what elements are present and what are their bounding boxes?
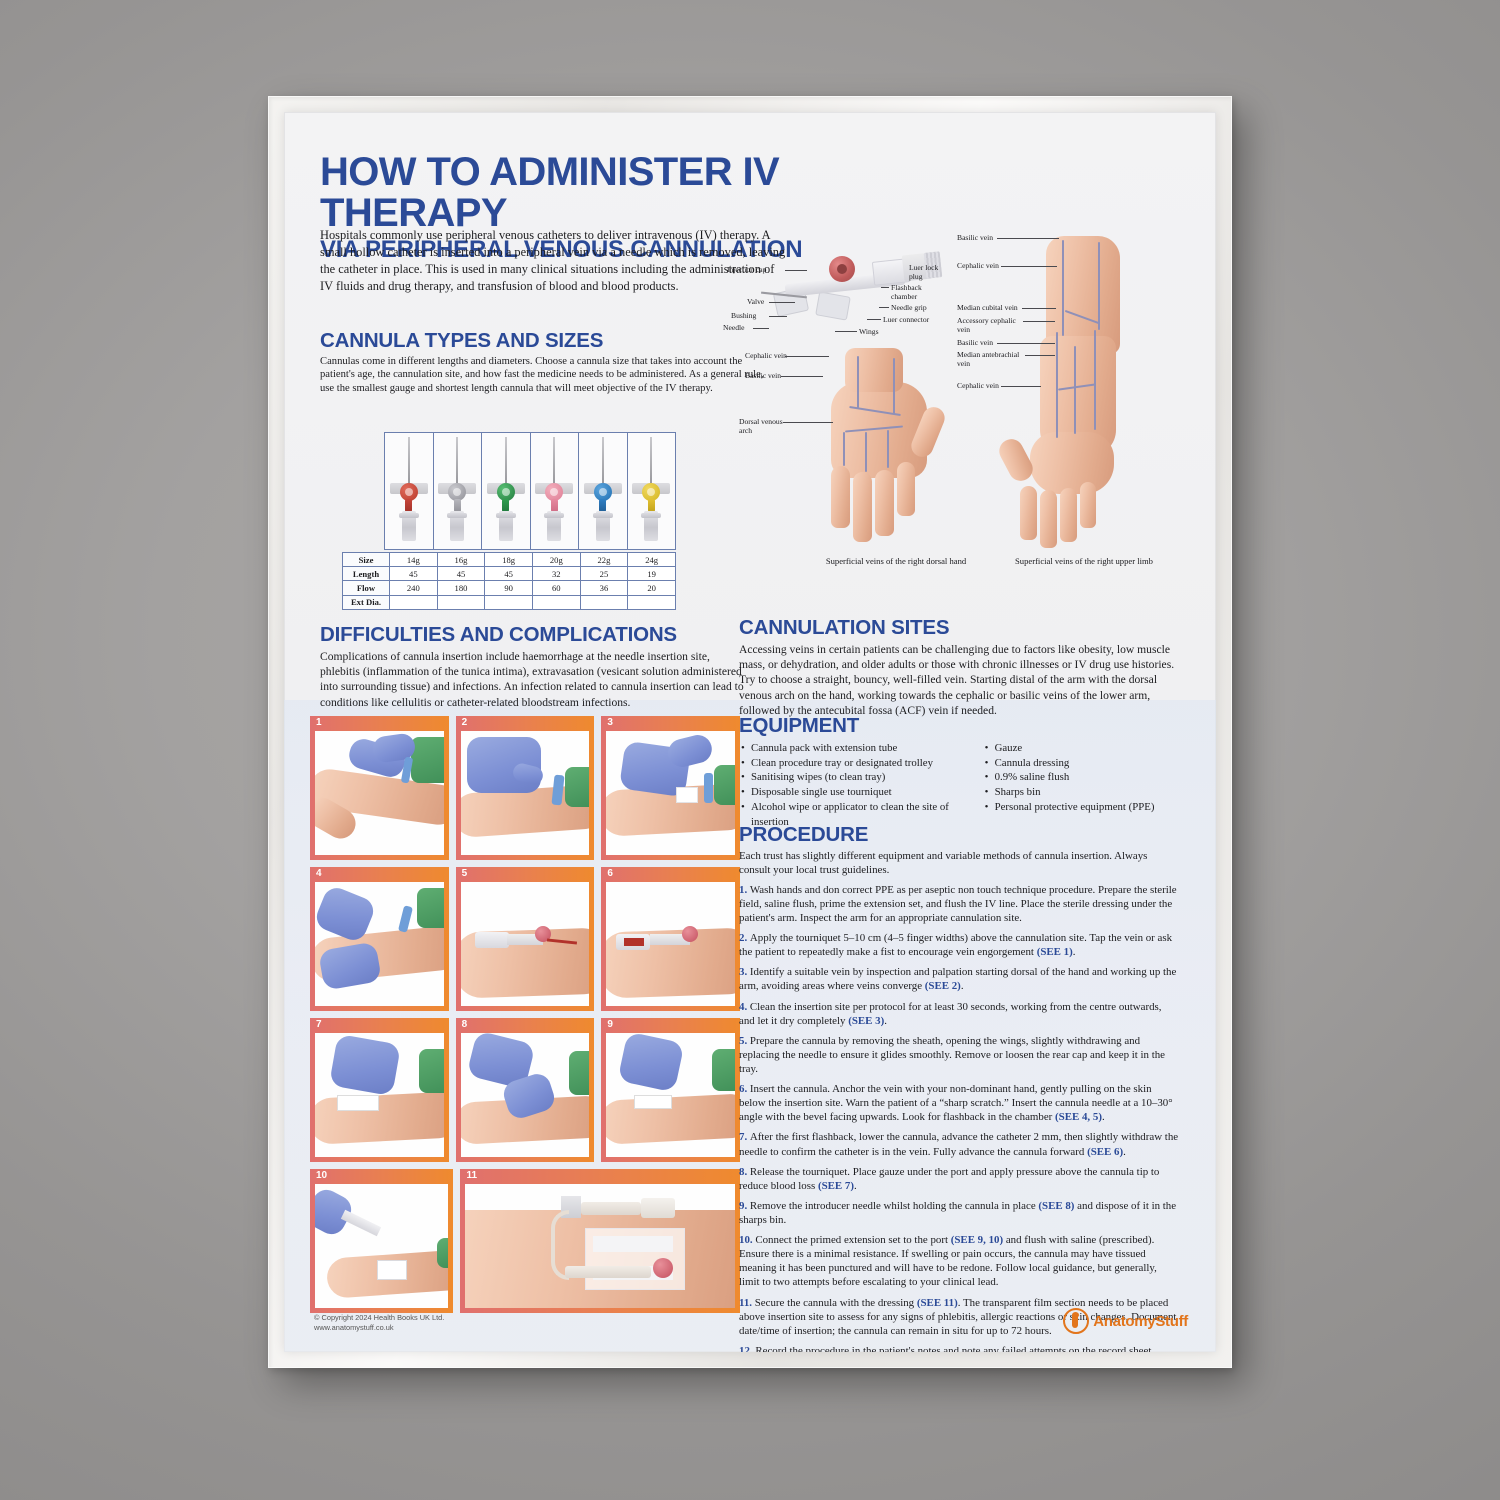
cell bbox=[532, 595, 580, 609]
procedure-section: PROCEDURE Each trust has slightly differ… bbox=[739, 824, 1179, 1352]
table-row: Length 45 45 45 32 25 19 bbox=[343, 567, 676, 581]
cell: 22g bbox=[580, 553, 628, 567]
cannula-types-section: CANNULA TYPES AND SIZES Cannulas come in… bbox=[320, 330, 770, 396]
cell: 20g bbox=[532, 553, 580, 567]
cannula-types-text: Cannulas come in different lengths and d… bbox=[320, 355, 770, 396]
procedure-photo-grid: 1 2 bbox=[310, 716, 740, 1320]
procedure-step: 6. Insert the cannula. Anchor the vein w… bbox=[739, 1082, 1179, 1124]
cell: 32 bbox=[532, 567, 580, 581]
grid-row: 7 8 bbox=[310, 1018, 740, 1162]
step-reference: (SEE 8) bbox=[1038, 1200, 1074, 1212]
poster-canvas: HOW TO ADMINISTER IV THERAPY VIA PERIPHE… bbox=[284, 112, 1216, 1352]
cannulation-sites-section: CANNULATION SITES Accessing veins in cer… bbox=[739, 617, 1179, 719]
cannulation-sites-heading: CANNULATION SITES bbox=[739, 617, 1179, 640]
cell: 45 bbox=[390, 567, 438, 581]
step-reference: (SEE 11) bbox=[917, 1297, 958, 1309]
photo-number: 9 bbox=[607, 1019, 613, 1030]
step-number: 5. bbox=[739, 1035, 750, 1047]
cannula-22g bbox=[579, 433, 628, 549]
list-item: Sharps bin bbox=[995, 785, 1179, 799]
photo-number: 2 bbox=[462, 717, 468, 728]
procedure-photo-10: 10 bbox=[310, 1169, 453, 1313]
label-luer-connector: Luer connector bbox=[883, 316, 929, 325]
cannula-20g bbox=[531, 433, 580, 549]
step-number: 7. bbox=[739, 1131, 750, 1143]
step-reference: (SEE 6) bbox=[1087, 1146, 1123, 1158]
label-needle-grip: Needle grip bbox=[891, 304, 927, 313]
cell: 60 bbox=[532, 581, 580, 595]
cell: 45 bbox=[437, 567, 485, 581]
label-hand-basilic-vein: Basilic vein bbox=[745, 372, 781, 381]
grid-row: 10 11 bbox=[310, 1169, 740, 1313]
procedure-step: 8. Release the tourniquet. Place gauze u… bbox=[739, 1165, 1179, 1193]
cell: 18g bbox=[485, 553, 533, 567]
step-number: 12. bbox=[739, 1345, 755, 1352]
picture-frame: HOW TO ADMINISTER IV THERAPY VIA PERIPHE… bbox=[268, 96, 1232, 1368]
grid-row: 1 2 bbox=[310, 716, 740, 860]
step-reference: (SEE 7) bbox=[818, 1180, 854, 1192]
wall-background: HOW TO ADMINISTER IV THERAPY VIA PERIPHE… bbox=[0, 0, 1500, 1500]
step-reference: (SEE 3) bbox=[848, 1015, 884, 1027]
label-hand-cephalic-vein: Cephalic vein bbox=[745, 352, 787, 361]
procedure-step: 5. Prepare the cannula by removing the s… bbox=[739, 1034, 1179, 1076]
procedure-heading: PROCEDURE bbox=[739, 824, 1179, 847]
procedure-photo-2: 2 bbox=[456, 716, 595, 860]
procedure-step: 7. After the first flashback, lower the … bbox=[739, 1130, 1179, 1158]
procedure-photo-8: 8 bbox=[456, 1018, 595, 1162]
label-limb-cephalic-vein-2: Cephalic vein bbox=[957, 382, 999, 391]
step-number: 6. bbox=[739, 1083, 750, 1095]
procedure-step: 1. Wash hands and don correct PPE as per… bbox=[739, 883, 1179, 925]
cell: 45 bbox=[485, 567, 533, 581]
difficulties-heading: DIFFICULTIES AND COMPLICATIONS bbox=[320, 624, 750, 647]
list-item: Sanitising wipes (to clean tray) bbox=[751, 770, 969, 784]
label-limb-basilic-vein-2: Basilic vein bbox=[957, 339, 993, 348]
list-item: Cannula pack with extension tube bbox=[751, 741, 969, 755]
row-label-size: Size bbox=[343, 553, 390, 567]
photo-number: 11 bbox=[466, 1170, 477, 1181]
label-luer-lock-plug: Luer lock plug bbox=[909, 264, 939, 281]
copyright-block: © Copyright 2024 Health Books UK Ltd. ww… bbox=[314, 1313, 444, 1334]
cannula-16g bbox=[434, 433, 483, 549]
photo-number: 6 bbox=[607, 868, 613, 879]
cell bbox=[580, 595, 628, 609]
cannula-types-heading: CANNULA TYPES AND SIZES bbox=[320, 330, 770, 353]
logo-text: AnatomyStuff bbox=[1093, 1313, 1188, 1330]
intro-paragraph: Hospitals commonly use peripheral venous… bbox=[320, 227, 790, 294]
caption-dorsal-hand: Superficial veins of the right dorsal ha… bbox=[801, 556, 991, 566]
step-reference: (SEE 1) bbox=[1037, 946, 1073, 958]
body-figure-icon bbox=[1063, 1308, 1089, 1334]
step-reference: (SEE 4, 5) bbox=[1055, 1111, 1102, 1123]
step-number: 10. bbox=[739, 1234, 755, 1246]
procedure-intro: Each trust has slightly different equipm… bbox=[739, 849, 1179, 877]
photo-number: 3 bbox=[607, 717, 613, 728]
upper-limb-illustration bbox=[994, 236, 1172, 546]
label-limb-cephalic-vein: Cephalic vein bbox=[957, 262, 999, 271]
label-accessory-cephalic-vein: Accessory cephalic vein bbox=[957, 317, 1021, 334]
cell: 25 bbox=[580, 567, 628, 581]
caption-upper-limb: Superficial veins of the right upper lim… bbox=[989, 556, 1179, 566]
list-item: Gauze bbox=[995, 741, 1179, 755]
equipment-list-column-2: Gauze Cannula dressing 0.9% saline flush… bbox=[983, 741, 1179, 830]
step-number: 11. bbox=[739, 1297, 755, 1309]
list-item: Clean procedure tray or designated troll… bbox=[751, 756, 969, 770]
row-label-flow: Flow bbox=[343, 581, 390, 595]
label-valve: Valve bbox=[747, 298, 764, 307]
label-median-antebrachial-vein: Median antebrachial vein bbox=[957, 351, 1023, 368]
label-injection-cap: Injection cap bbox=[727, 266, 766, 275]
table-row: Size 14g 16g 18g 20g 22g 24g bbox=[343, 553, 676, 567]
photo-number: 1 bbox=[316, 717, 322, 728]
list-item: Disposable single use tourniquet bbox=[751, 785, 969, 799]
cell: 90 bbox=[485, 581, 533, 595]
cannulation-sites-text: Accessing veins in certain patients can … bbox=[739, 642, 1179, 719]
label-wings: Wings bbox=[859, 328, 879, 337]
label-bushing: Bushing bbox=[731, 312, 756, 321]
procedure-step: 9. Remove the introducer needle whilst h… bbox=[739, 1199, 1179, 1227]
row-label-extdia: Ext Dia. bbox=[343, 595, 390, 609]
cell bbox=[437, 595, 485, 609]
cell: 20 bbox=[628, 581, 676, 595]
photo-number: 5 bbox=[462, 868, 468, 879]
photo-number: 8 bbox=[462, 1019, 468, 1030]
list-item: 0.9% saline flush bbox=[995, 770, 1179, 784]
cell: 16g bbox=[437, 553, 485, 567]
label-flashback-chamber: Flashback chamber bbox=[891, 284, 937, 301]
procedure-photo-5: 5 bbox=[456, 867, 595, 1011]
list-item: Cannula dressing bbox=[995, 756, 1179, 770]
photo-number: 4 bbox=[316, 868, 322, 879]
cannula-18g bbox=[482, 433, 531, 549]
equipment-heading: EQUIPMENT bbox=[739, 715, 1179, 738]
copyright-line: © Copyright 2024 Health Books UK Ltd. bbox=[314, 1313, 444, 1324]
cannula-14g bbox=[385, 433, 434, 549]
difficulties-section: DIFFICULTIES AND COMPLICATIONS Complicat… bbox=[320, 624, 750, 710]
cell bbox=[485, 595, 533, 609]
procedure-step: 10. Connect the primed extension set to … bbox=[739, 1233, 1179, 1289]
step-number: 3. bbox=[739, 966, 750, 978]
table-row: Flow 240 180 90 60 36 20 bbox=[343, 581, 676, 595]
cell: 24g bbox=[628, 553, 676, 567]
cell bbox=[390, 595, 438, 609]
list-item: Personal protective equipment (PPE) bbox=[995, 800, 1179, 814]
procedure-photo-7: 7 bbox=[310, 1018, 449, 1162]
cell bbox=[628, 595, 676, 609]
dorsal-hand-illustration bbox=[809, 348, 989, 544]
table-row: Ext Dia. bbox=[343, 595, 676, 609]
anatomystuff-logo: AnatomyStuff bbox=[1063, 1308, 1188, 1334]
photo-number: 10 bbox=[316, 1170, 327, 1181]
row-label-length: Length bbox=[343, 567, 390, 581]
cell: 180 bbox=[437, 581, 485, 595]
procedure-photo-4: 4 bbox=[310, 867, 449, 1011]
step-number: 9. bbox=[739, 1200, 750, 1212]
procedure-step: 2. Apply the tourniquet 5–10 cm (4–5 fin… bbox=[739, 931, 1179, 959]
equipment-section: EQUIPMENT Cannula pack with extension tu… bbox=[739, 715, 1179, 830]
label-dorsal-venous-arch: Dorsal venous arch bbox=[739, 418, 783, 435]
grid-row: 4 5 bbox=[310, 867, 740, 1011]
cannula-sizes-table: Size 14g 16g 18g 20g 22g 24g Length 45 4… bbox=[342, 552, 676, 610]
cell: 14g bbox=[390, 553, 438, 567]
procedure-photo-3: 3 bbox=[601, 716, 740, 860]
procedure-photo-6: 6 bbox=[601, 867, 740, 1011]
equipment-list-column-1: Cannula pack with extension tube Clean p… bbox=[739, 741, 969, 830]
step-number: 2. bbox=[739, 932, 750, 944]
procedure-photo-1: 1 bbox=[310, 716, 449, 860]
cell: 19 bbox=[628, 567, 676, 581]
procedure-step: 4. Clean the insertion site per protocol… bbox=[739, 1000, 1179, 1028]
procedure-photo-9: 9 bbox=[601, 1018, 740, 1162]
step-number: 1. bbox=[739, 884, 750, 896]
photo-number: 7 bbox=[316, 1019, 322, 1030]
label-median-cubital-vein: Median cubital vein bbox=[957, 304, 1018, 313]
difficulties-text: Complications of cannula insertion inclu… bbox=[320, 649, 750, 711]
step-reference: (SEE 9, 10) bbox=[951, 1234, 1003, 1246]
website-line: www.anatomystuff.co.uk bbox=[314, 1323, 444, 1334]
procedure-steps: 1. Wash hands and don correct PPE as per… bbox=[739, 883, 1179, 1352]
step-number: 4. bbox=[739, 1001, 750, 1013]
anatomy-illustrations: Injection cap Valve Bushing Needle Wings… bbox=[739, 220, 1212, 600]
label-needle: Needle bbox=[723, 324, 745, 333]
cannula-figure bbox=[384, 432, 676, 550]
step-number: 8. bbox=[739, 1166, 750, 1178]
procedure-photo-11: 11 bbox=[460, 1169, 740, 1313]
procedure-step: 3. Identify a suitable vein by inspectio… bbox=[739, 965, 1179, 993]
cell: 240 bbox=[390, 581, 438, 595]
procedure-step: 12. Record the procedure in the patient'… bbox=[739, 1344, 1179, 1352]
cannula-24g bbox=[628, 433, 676, 549]
cell: 36 bbox=[580, 581, 628, 595]
step-reference: (SEE 2) bbox=[925, 980, 961, 992]
label-limb-basilic-vein: Basilic vein bbox=[957, 234, 993, 243]
